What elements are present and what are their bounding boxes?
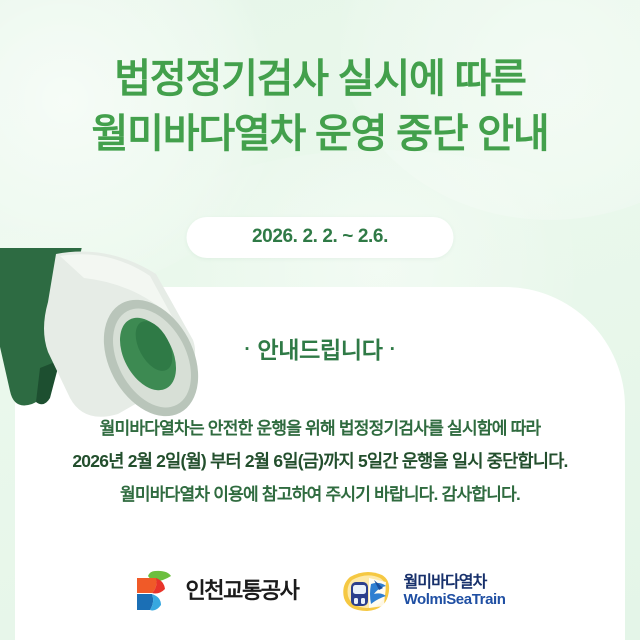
decor-dot-left-icon: ·	[244, 339, 250, 361]
headline-line-2: 월미바다열차 운영 중단 안내	[0, 107, 640, 162]
headline-line-1: 법정정기검사 실시에 따른	[0, 52, 640, 107]
logo-row: 인천교통공사 월미바다열차 WolmiSeaTrain	[0, 568, 640, 614]
date-badge: 2026. 2. 2. ~ 2.6.	[187, 217, 454, 258]
wolmi-sea-train-logo: 월미바다열차 WolmiSeaTrain	[340, 568, 505, 614]
decor-dot-right-icon: ·	[390, 339, 396, 361]
body-line-1: 월미바다열차는 안전한 운행을 위해 법정정기검사를 실시함에 따라	[0, 412, 640, 445]
wolmi-sea-train-icon	[340, 568, 394, 614]
wolmi-logo-text: 월미바다열차 WolmiSeaTrain	[403, 575, 505, 608]
notice-poster: 법정정기검사 실시에 따른 월미바다열차 운영 중단 안내 2026. 2. 2…	[0, 0, 640, 640]
body-line-3: 월미바다열차 이용에 참고하여 주시기 바랍니다. 감사합니다.	[0, 478, 640, 511]
wolmi-logo-text-en: WolmiSeaTrain	[403, 592, 505, 608]
section-heading-label: 안내드립니다	[257, 337, 382, 363]
poster-headline: 법정정기검사 실시에 따른 월미바다열차 운영 중단 안내	[0, 52, 640, 162]
wolmi-logo-text-ko: 월미바다열차	[403, 575, 505, 592]
section-heading: ·안내드립니다·	[0, 331, 640, 365]
incheon-transit-logo: 인천교통공사	[134, 569, 298, 613]
incheon-transit-petals-icon	[134, 569, 176, 613]
body-line-2: 2026년 2월 2일(월) 부터 2월 6일(금)까지 5일간 운행을 일시 …	[0, 445, 640, 478]
incheon-transit-logo-text: 인천교통공사	[185, 580, 298, 602]
body-copy: 월미바다열차는 안전한 운행을 위해 법정정기검사를 실시함에 따라 2026년…	[0, 412, 640, 511]
